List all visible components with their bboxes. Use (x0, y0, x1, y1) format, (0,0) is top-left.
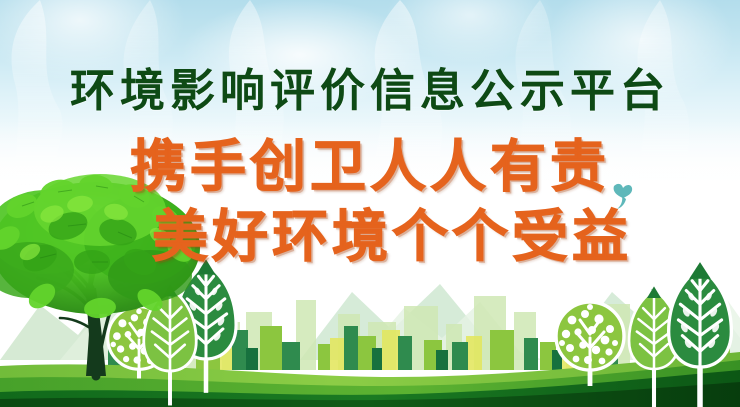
slogan-line-2: 美好环境个个受益 (0, 210, 740, 266)
environmental-banner: 环境影响评价信息公示平台 携手创卫人人有责 美好环境个个受益 (0, 0, 740, 407)
slogan-block: 携手创卫人人有责 美好环境个个受益 (0, 140, 740, 266)
page-title: 环境影响评价信息公示平台 (0, 68, 740, 113)
slogan-line-1: 携手创卫人人有责 (0, 140, 740, 196)
